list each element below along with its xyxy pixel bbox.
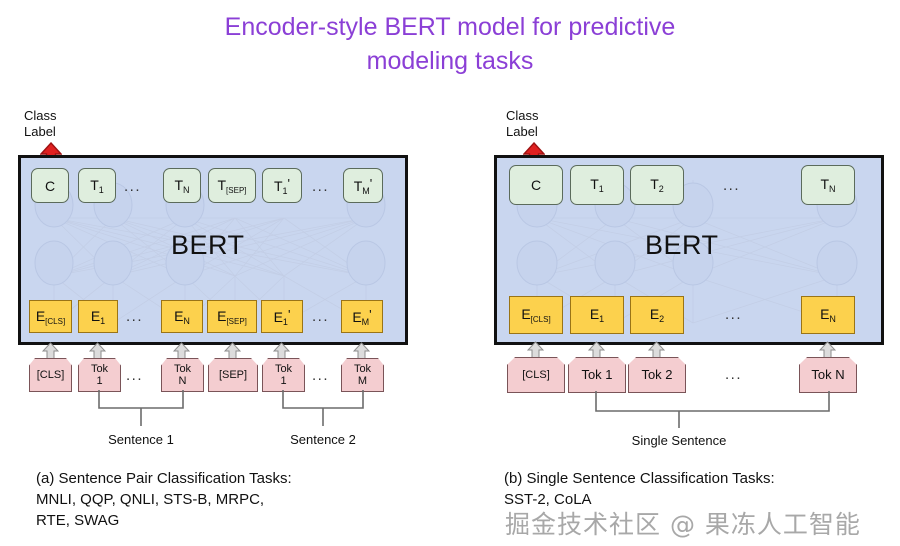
input-ellipsis-2-left: ... bbox=[312, 367, 329, 384]
output-token-t1-right-text: T1 bbox=[590, 176, 604, 194]
single-sentence-label: Single Sentence bbox=[629, 433, 729, 448]
sentence-brackets-right bbox=[450, 391, 900, 433]
embedding-e2-right-text: E2 bbox=[650, 306, 664, 324]
embedding-e1-left-text: E1 bbox=[91, 308, 105, 326]
sentence-1-label: Sentence 1 bbox=[91, 432, 191, 447]
input-token-tokm-left[interactable]: Tok M bbox=[341, 358, 384, 392]
embedding-ecls-right-text: E[CLS] bbox=[521, 306, 550, 324]
input-token-tokn-left-text: Tok N bbox=[174, 363, 191, 387]
input-token-tokm-left-text: Tok M bbox=[354, 363, 371, 387]
input-token-tokn-right-text: Tok N bbox=[811, 369, 844, 381]
output-token-t1-left[interactable]: T1 bbox=[78, 168, 116, 203]
embedding-e2-right[interactable]: E2 bbox=[630, 296, 684, 334]
output-token-tmprime-left-text: TM' bbox=[354, 176, 373, 196]
output-token-t1-left-text: T1 bbox=[90, 177, 104, 195]
embedding-e1prime-left[interactable]: E1' bbox=[261, 300, 303, 333]
embedding-ecls-left[interactable]: E[CLS] bbox=[29, 300, 72, 333]
output-token-t2-right[interactable]: T2 bbox=[630, 165, 684, 205]
output-token-t1prime-left-text: T1' bbox=[274, 176, 290, 196]
input-token-tok1-right-text: Tok 1 bbox=[581, 369, 612, 381]
sentence-pair-diagram: Class Label bbox=[0, 0, 450, 546]
embedding-en-left[interactable]: EN bbox=[161, 300, 203, 333]
input-token-tokn-left[interactable]: Tok N bbox=[161, 358, 204, 392]
output-token-t1prime-left[interactable]: T1' bbox=[262, 168, 302, 203]
input-token-tok1b-left-text: Tok 1 bbox=[275, 363, 292, 387]
embedding-ellipsis-1-left: ... bbox=[126, 308, 143, 325]
input-token-sep-left-text: [SEP] bbox=[219, 369, 247, 381]
input-token-tokn-right[interactable]: Tok N bbox=[799, 357, 857, 393]
output-token-c-right[interactable]: C bbox=[509, 165, 563, 205]
embedding-esep-left-text: E[SEP] bbox=[217, 308, 247, 326]
class-label-right: Class Label bbox=[506, 108, 539, 140]
embedding-en-right-text: EN bbox=[820, 306, 836, 324]
sentence-brackets-left bbox=[0, 390, 450, 432]
output-token-tn-left[interactable]: TN bbox=[163, 168, 201, 203]
input-token-tok1-left-text: Tok 1 bbox=[91, 363, 108, 387]
embedding-ecls-right[interactable]: E[CLS] bbox=[509, 296, 563, 334]
output-token-c-right-text: C bbox=[531, 177, 541, 193]
input-token-sep-left[interactable]: [SEP] bbox=[208, 358, 258, 392]
embedding-en-right[interactable]: EN bbox=[801, 296, 855, 334]
embedding-e1-right[interactable]: E1 bbox=[570, 296, 624, 334]
output-token-t1-right[interactable]: T1 bbox=[570, 165, 624, 205]
output-token-tmprime-left[interactable]: TM' bbox=[343, 168, 383, 203]
output-token-c-left[interactable]: C bbox=[31, 168, 69, 203]
input-token-tok2-right[interactable]: Tok 2 bbox=[628, 357, 686, 393]
single-sentence-diagram: Class Label bbox=[450, 0, 900, 546]
embedding-esep-left[interactable]: E[SEP] bbox=[207, 300, 257, 333]
sentence-2-label: Sentence 2 bbox=[273, 432, 373, 447]
output-token-t2-right-text: T2 bbox=[650, 176, 664, 194]
input-token-tok2-right-text: Tok 2 bbox=[641, 369, 672, 381]
input-token-cls-right[interactable]: [CLS] bbox=[507, 357, 565, 393]
input-token-cls-right-text: [CLS] bbox=[522, 369, 550, 381]
embedding-e1-left[interactable]: E1 bbox=[78, 300, 118, 333]
output-ellipsis-2-left: ... bbox=[312, 178, 329, 195]
input-ellipsis-1-left: ... bbox=[126, 367, 143, 384]
output-token-c-left-text: C bbox=[45, 178, 55, 194]
embedding-ellipsis-2-left: ... bbox=[312, 308, 329, 325]
bert-label-left: BERT bbox=[171, 230, 245, 261]
input-ellipsis-right: ... bbox=[725, 366, 742, 383]
output-token-tn-left-text: TN bbox=[174, 177, 189, 195]
watermark-text: 掘金技术社区 @ 果冻人工智能 bbox=[505, 505, 861, 541]
input-token-cls-left[interactable]: [CLS] bbox=[29, 358, 72, 392]
output-ellipsis-1-left: ... bbox=[124, 178, 141, 195]
output-token-tsep-left-text: T[SEP] bbox=[217, 177, 246, 195]
input-token-cls-left-text: [CLS] bbox=[37, 369, 65, 381]
output-token-tn-right-text: TN bbox=[820, 176, 835, 194]
output-ellipsis-right: ... bbox=[723, 177, 740, 194]
embedding-e1-right-text: E1 bbox=[590, 306, 604, 324]
output-token-tn-right[interactable]: TN bbox=[801, 165, 855, 205]
embedding-e1prime-left-text: E1' bbox=[274, 307, 291, 327]
class-label-left: Class Label bbox=[24, 108, 57, 140]
bert-label-right: BERT bbox=[645, 230, 719, 261]
embedding-ecls-left-text: E[CLS] bbox=[36, 308, 65, 326]
embedding-emprime-left[interactable]: EM' bbox=[341, 300, 383, 333]
input-token-tok1-left[interactable]: Tok 1 bbox=[78, 358, 121, 392]
input-token-tok1b-left[interactable]: Tok 1 bbox=[262, 358, 305, 392]
embedding-emprime-left-text: EM' bbox=[352, 307, 371, 327]
output-token-tsep-left[interactable]: T[SEP] bbox=[208, 168, 256, 203]
embedding-en-left-text: EN bbox=[174, 308, 190, 326]
caption-b: (b) Single Sentence Classification Tasks… bbox=[504, 468, 900, 510]
input-token-tok1-right[interactable]: Tok 1 bbox=[568, 357, 626, 393]
embedding-ellipsis-right: ... bbox=[725, 306, 742, 323]
caption-a: (a) Sentence Pair Classification Tasks: … bbox=[36, 468, 436, 531]
